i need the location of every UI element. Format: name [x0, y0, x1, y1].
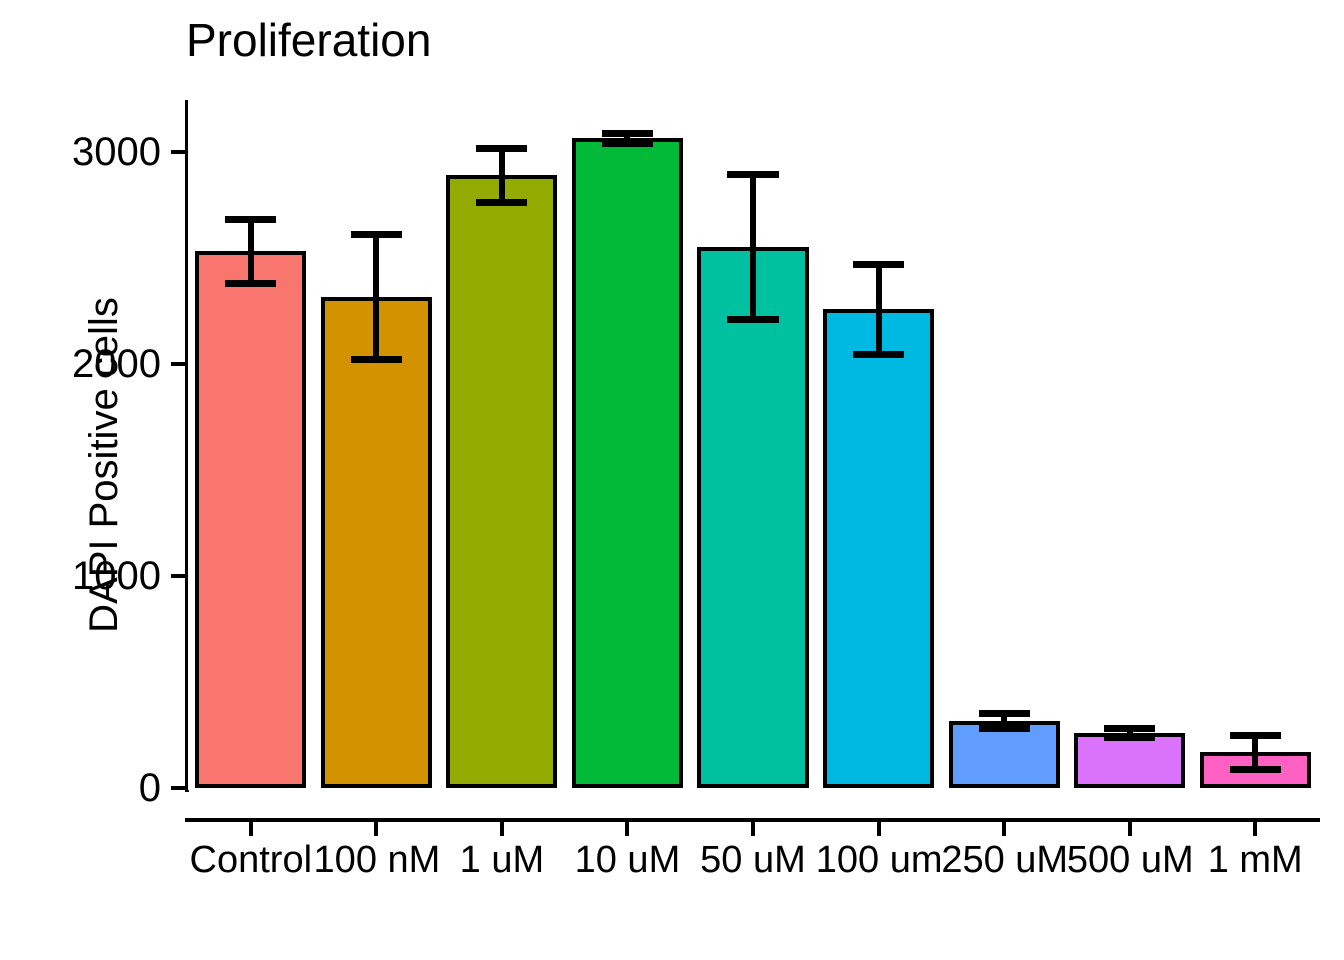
- error-bar-cap-upper: [602, 130, 653, 137]
- x-tick-label: 10 uM: [565, 838, 691, 882]
- error-bar-cap-lower: [1230, 766, 1281, 773]
- error-bar-stem: [373, 234, 379, 359]
- y-axis-title: DAPI Positive cells: [81, 155, 127, 775]
- y-tick-label: 3000: [72, 132, 161, 172]
- x-tick-label: 100 um: [816, 838, 942, 882]
- error-bar-stem: [876, 264, 882, 354]
- chart-figure: Proliferation DAPI Positive cells 010002…: [0, 0, 1344, 960]
- bar: [446, 175, 557, 788]
- x-tick-mark: [877, 822, 881, 836]
- error-bar-cap-lower: [979, 725, 1030, 732]
- error-bar-cap-upper: [1230, 732, 1281, 739]
- y-tick-mark: [171, 786, 185, 790]
- x-tick-mark: [374, 822, 378, 836]
- error-bar-stem: [248, 219, 254, 283]
- x-tick-mark: [1128, 822, 1132, 836]
- error-bar-cap-upper: [1104, 725, 1155, 732]
- x-tick-label: 50 uM: [690, 838, 816, 882]
- plot-panel: [188, 100, 1318, 790]
- x-tick-mark: [1253, 822, 1257, 836]
- error-bar-cap-lower: [1104, 734, 1155, 741]
- x-tick-label: Control: [188, 838, 314, 882]
- y-tick-label: 1000: [72, 556, 161, 596]
- x-tick-mark: [1002, 822, 1006, 836]
- error-bar-cap-lower: [602, 140, 653, 147]
- x-tick-mark: [625, 822, 629, 836]
- x-tick-mark: [249, 822, 253, 836]
- error-bar-cap-lower: [476, 199, 527, 206]
- y-tick-label: 2000: [72, 344, 161, 384]
- x-tick-mark: [751, 822, 755, 836]
- y-tick-label: 0: [139, 768, 161, 808]
- x-tick-mark: [500, 822, 504, 836]
- y-tick-mark: [171, 362, 185, 366]
- error-bar-cap-upper: [727, 171, 778, 178]
- error-bar-cap-upper: [225, 216, 276, 223]
- x-tick-label: 1 uM: [439, 838, 565, 882]
- error-bar-cap-lower: [727, 316, 778, 323]
- bar: [823, 309, 934, 788]
- bar: [1074, 733, 1185, 788]
- error-bar-cap-upper: [853, 261, 904, 268]
- x-tick-label: 100 nM: [314, 838, 440, 882]
- error-bar-cap-upper: [351, 231, 402, 238]
- x-tick-label: 250 uM: [941, 838, 1067, 882]
- bar: [321, 297, 432, 788]
- error-bar-cap-lower: [351, 356, 402, 363]
- error-bar-cap-lower: [225, 280, 276, 287]
- error-bar-cap-upper: [979, 710, 1030, 717]
- x-tick-label: 1 mM: [1192, 838, 1318, 882]
- chart-title: Proliferation: [186, 12, 431, 68]
- y-tick-mark: [171, 574, 185, 578]
- error-bar-stem: [750, 174, 756, 319]
- bar: [572, 138, 683, 788]
- error-bar-stem: [499, 148, 505, 202]
- error-bar-cap-upper: [476, 145, 527, 152]
- bar: [697, 247, 808, 788]
- bar: [195, 251, 306, 788]
- error-bar-cap-lower: [853, 351, 904, 358]
- x-tick-label: 500 uM: [1067, 838, 1193, 882]
- y-tick-mark: [171, 150, 185, 154]
- error-bar-stem: [1252, 735, 1258, 769]
